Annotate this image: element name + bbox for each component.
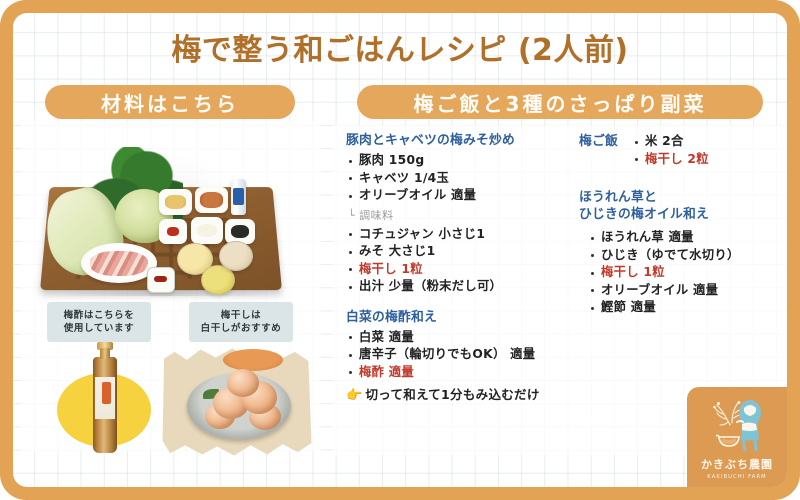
- recipe-hakusai: 白菜の梅酢和え 白菜 適量 唐辛子（輪切りでもOK） 適量 梅酢 適量 👉切って…: [346, 310, 574, 404]
- bowl-chili-pepper: [147, 267, 175, 293]
- recipe-spinach-hijiki: ほうれん草と ひじきの梅オイル和え ほうれん草 適量 ひじき（ゆでて水切り） 梅…: [579, 190, 787, 317]
- caption-umeboshi: 梅干しは 白干しがおすすめ: [189, 302, 293, 342]
- pointing-hand-icon: 👉: [346, 388, 363, 403]
- farmer-illustration-icon: [706, 399, 768, 453]
- list-item-highlight: 梅酢 適量: [359, 364, 574, 382]
- list-item-highlight: 梅干し 1粒: [601, 264, 787, 282]
- list-item: 白菜 適量: [359, 329, 574, 347]
- umesu-bottle-photo: [49, 349, 159, 459]
- caption-umesu: 梅酢はこちらを 使用しています: [47, 302, 151, 342]
- list-item-highlight: 梅干し 2粒: [645, 151, 709, 169]
- recipe-heading: 白菜の梅酢和え: [346, 310, 574, 326]
- logo-name-jp: かきぶち農園: [701, 456, 773, 472]
- list-item: オリーブオイル 適量: [359, 187, 574, 205]
- list-item: 米 2合: [645, 133, 709, 151]
- recipe-column-right: 梅ご飯 米 2合 梅干し 2粒 ほうれん草と ひじきの梅オイル和え ほうれん草 …: [579, 133, 787, 326]
- list-item: 鰹節 適量: [601, 299, 787, 317]
- bowl-miso: [191, 217, 223, 244]
- caption-umesu-line1: 梅酢はこちらを: [64, 309, 135, 322]
- caption-umesu-line2: 使用しています: [64, 322, 134, 335]
- bottle-label: [95, 377, 115, 419]
- bowl-gochujang: [159, 219, 187, 244]
- list-item-highlight: 梅干し 1粒: [359, 261, 574, 279]
- recipe-note: 👉切って和えて1分もみ込むだけ: [346, 384, 574, 403]
- small-orange-dish: [223, 349, 283, 371]
- page-title: 梅で整う和ごはんレシピ (2人前): [13, 25, 787, 69]
- list-item: ほうれん草 適量: [601, 229, 787, 247]
- ingredient-list: ほうれん草 適量 ひじき（ゆでて水切り） 梅干し 1粒 オリーブオイル 適量 鰹…: [579, 229, 787, 317]
- recipe-heading-line1: ほうれん草と: [579, 190, 787, 206]
- list-item: ひじき（ゆでて水切り）: [601, 247, 787, 265]
- seasoning-bottle: [231, 179, 246, 215]
- logo-artwork: [706, 399, 768, 453]
- glass-katsuobushi: [219, 241, 253, 271]
- poster-inner: 梅で整う和ごはんレシピ (2人前) 材料はこちら 梅ご飯と3種のさっぱり副菜: [13, 13, 787, 487]
- list-item: コチュジャン 小さじ1: [359, 226, 574, 244]
- bowl-hijiki: [225, 219, 255, 244]
- logo-name-en: KAKIBUCHI FARM: [707, 474, 766, 480]
- caption-umeboshi-line1: 梅干しは: [221, 309, 261, 322]
- list-item: 豚肉 150g: [359, 152, 574, 170]
- list-item: 唐辛子（輪切りでもOK） 適量: [359, 346, 574, 364]
- poster-frame: 梅で整う和ごはんレシピ (2人前) 材料はこちら 梅ご飯と3種のさっぱり副菜: [0, 0, 800, 500]
- list-item: みそ 大さじ1: [359, 243, 574, 261]
- list-item: オリーブオイル 適量: [601, 282, 787, 300]
- recipe-ume-gohan: 梅ご飯 米 2合 梅干し 2粒: [579, 133, 787, 168]
- recipe-pork-cabbage: 豚肉とキャベツの梅みそ炒め 豚肉 150g キャベツ 1/4玉 オリーブオイル …: [346, 133, 574, 296]
- ingredient-list: 白菜 適量 唐辛子（輪切りでもOK） 適量 梅酢 適量: [346, 329, 574, 382]
- umeboshi-photo: [161, 345, 313, 459]
- bowl-umeboshi: [195, 187, 228, 213]
- recipe-note-text: 切って和えて1分もみ込むだけ: [366, 387, 540, 402]
- vinegar-bottle: [93, 357, 117, 453]
- seasoning-sub-label: └ 調味料: [348, 207, 574, 223]
- section-pill-recipes: 梅ご飯と3種のさっぱり副菜: [357, 85, 763, 119]
- recipe-heading: 梅ご飯: [579, 134, 618, 150]
- umeboshi-plum: [227, 369, 259, 397]
- list-item: 出汁 少量（粉末だし可）: [359, 278, 574, 296]
- bowl-ginger: [159, 189, 192, 215]
- bottle-neck: [100, 348, 110, 359]
- list-item: キャベツ 1/4玉: [359, 170, 574, 188]
- section-pill-ingredients: 材料はこちら: [45, 85, 295, 119]
- ingredients-board-photo: [35, 131, 287, 296]
- caption-umeboshi-line2: 白干しがおすすめ: [201, 322, 282, 335]
- seasoning-list: コチュジャン 小さじ1 みそ 大さじ1 梅干し 1粒 出汁 少量（粉末だし可）: [346, 226, 574, 296]
- pork-slices-plate: [81, 243, 157, 283]
- ingredient-list: 豚肉 150g キャベツ 1/4玉 オリーブオイル 適量: [346, 152, 574, 205]
- recipe-heading-line2: ひじきの梅オイル和え: [579, 207, 787, 223]
- ingredient-list: 米 2合 梅干し 2粒: [632, 133, 709, 168]
- recipe-heading: 豚肉とキャベツの梅みそ炒め: [346, 133, 574, 149]
- recipe-column-left: 豚肉とキャベツの梅みそ炒め 豚肉 150g キャベツ 1/4玉 オリーブオイル …: [346, 133, 574, 412]
- brand-logo: かきぶち農園 KAKIBUCHI FARM: [687, 387, 787, 487]
